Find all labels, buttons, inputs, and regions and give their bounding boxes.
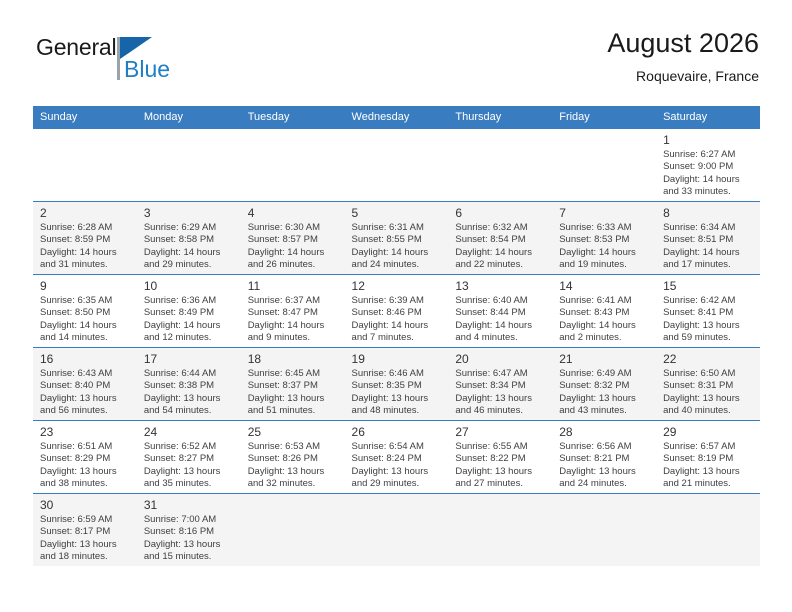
day-number: 19 bbox=[352, 352, 443, 367]
daylight-text-line2: and 22 minutes. bbox=[455, 259, 546, 271]
day-cell[interactable]: 29Sunrise: 6:57 AMSunset: 8:19 PMDayligh… bbox=[656, 421, 760, 494]
general-blue-logo[interactable]: General Blue bbox=[36, 34, 256, 96]
daylight-text-line2: and 18 minutes. bbox=[40, 551, 131, 563]
daylight-text-line1: Daylight: 13 hours bbox=[144, 466, 235, 478]
day-number: 18 bbox=[248, 352, 339, 367]
day-cell bbox=[552, 494, 656, 567]
sunrise-text: Sunrise: 6:59 AM bbox=[40, 514, 131, 526]
daylight-text-line2: and 27 minutes. bbox=[455, 478, 546, 490]
day-cell[interactable]: 22Sunrise: 6:50 AMSunset: 8:31 PMDayligh… bbox=[656, 348, 760, 421]
day-number: 8 bbox=[663, 206, 754, 221]
day-number: 30 bbox=[40, 498, 131, 513]
day-cell bbox=[448, 494, 552, 567]
day-cell[interactable]: 24Sunrise: 6:52 AMSunset: 8:27 PMDayligh… bbox=[137, 421, 241, 494]
sunset-text: Sunset: 8:32 PM bbox=[559, 380, 650, 392]
daylight-text-line2: and 2 minutes. bbox=[559, 332, 650, 344]
daylight-text-line1: Daylight: 13 hours bbox=[248, 466, 339, 478]
sunrise-text: Sunrise: 6:32 AM bbox=[455, 222, 546, 234]
daylight-text-line1: Daylight: 13 hours bbox=[455, 466, 546, 478]
daylight-text-line1: Daylight: 13 hours bbox=[559, 393, 650, 405]
daylight-text-line1: Daylight: 13 hours bbox=[40, 539, 131, 551]
day-number: 14 bbox=[559, 279, 650, 294]
daylight-text-line2: and 12 minutes. bbox=[144, 332, 235, 344]
day-number: 15 bbox=[663, 279, 754, 294]
daylight-text-line1: Daylight: 14 hours bbox=[144, 247, 235, 259]
sunrise-text: Sunrise: 6:56 AM bbox=[559, 441, 650, 453]
day-number: 22 bbox=[663, 352, 754, 367]
sunrise-text: Sunrise: 6:51 AM bbox=[40, 441, 131, 453]
daylight-text-line2: and 24 minutes. bbox=[352, 259, 443, 271]
calendar-week-row: 30Sunrise: 6:59 AMSunset: 8:17 PMDayligh… bbox=[33, 494, 760, 567]
sunset-text: Sunset: 8:35 PM bbox=[352, 380, 443, 392]
page-title: August 2026 bbox=[607, 26, 759, 60]
weekday-header-tuesday: Tuesday bbox=[241, 106, 345, 129]
daylight-text-line2: and 56 minutes. bbox=[40, 405, 131, 417]
daylight-text-line1: Daylight: 14 hours bbox=[559, 320, 650, 332]
title-block: August 2026 Roquevaire, France bbox=[607, 26, 759, 86]
day-number: 23 bbox=[40, 425, 131, 440]
daylight-text-line2: and 24 minutes. bbox=[559, 478, 650, 490]
sunrise-text: Sunrise: 6:49 AM bbox=[559, 368, 650, 380]
daylight-text-line1: Daylight: 13 hours bbox=[40, 393, 131, 405]
day-number: 11 bbox=[248, 279, 339, 294]
calendar-header-row: Sunday Monday Tuesday Wednesday Thursday… bbox=[33, 106, 760, 129]
day-number: 1 bbox=[663, 133, 754, 148]
sunrise-text: Sunrise: 6:45 AM bbox=[248, 368, 339, 380]
daylight-text-line1: Daylight: 14 hours bbox=[352, 247, 443, 259]
sunrise-text: Sunrise: 6:33 AM bbox=[559, 222, 650, 234]
daylight-text-line1: Daylight: 13 hours bbox=[455, 393, 546, 405]
sunrise-text: Sunrise: 6:41 AM bbox=[559, 295, 650, 307]
daylight-text-line1: Daylight: 14 hours bbox=[352, 320, 443, 332]
day-cell[interactable]: 14Sunrise: 6:41 AMSunset: 8:43 PMDayligh… bbox=[552, 275, 656, 348]
calendar-week-row: 1Sunrise: 6:27 AMSunset: 9:00 PMDaylight… bbox=[33, 129, 760, 202]
daylight-text-line2: and 54 minutes. bbox=[144, 405, 235, 417]
sunset-text: Sunset: 8:44 PM bbox=[455, 307, 546, 319]
daylight-text-line2: and 31 minutes. bbox=[40, 259, 131, 271]
calendar-page: General Blue August 2026 Roquevaire, Fra… bbox=[0, 0, 792, 612]
sunset-text: Sunset: 8:51 PM bbox=[663, 234, 754, 246]
daylight-text-line1: Daylight: 14 hours bbox=[248, 247, 339, 259]
sunset-text: Sunset: 8:38 PM bbox=[144, 380, 235, 392]
sunset-text: Sunset: 8:27 PM bbox=[144, 453, 235, 465]
day-cell[interactable]: 23Sunrise: 6:51 AMSunset: 8:29 PMDayligh… bbox=[33, 421, 137, 494]
day-cell bbox=[241, 129, 345, 202]
daylight-text-line1: Daylight: 14 hours bbox=[144, 320, 235, 332]
sunset-text: Sunset: 8:55 PM bbox=[352, 234, 443, 246]
day-cell[interactable]: 31Sunrise: 7:00 AMSunset: 8:16 PMDayligh… bbox=[137, 494, 241, 567]
daylight-text-line1: Daylight: 14 hours bbox=[559, 247, 650, 259]
daylight-text-line1: Daylight: 14 hours bbox=[248, 320, 339, 332]
day-cell[interactable]: 1Sunrise: 6:27 AMSunset: 9:00 PMDaylight… bbox=[656, 129, 760, 202]
page-header: General Blue August 2026 Roquevaire, Fra… bbox=[33, 26, 759, 100]
calendar-week-row: 16Sunrise: 6:43 AMSunset: 8:40 PMDayligh… bbox=[33, 348, 760, 421]
daylight-text-line1: Daylight: 14 hours bbox=[663, 174, 754, 186]
day-cell bbox=[656, 494, 760, 567]
sunset-text: Sunset: 8:19 PM bbox=[663, 453, 754, 465]
daylight-text-line2: and 35 minutes. bbox=[144, 478, 235, 490]
day-number: 25 bbox=[248, 425, 339, 440]
daylight-text-line2: and 46 minutes. bbox=[455, 405, 546, 417]
daylight-text-line2: and 51 minutes. bbox=[248, 405, 339, 417]
day-cell[interactable]: 6Sunrise: 6:32 AMSunset: 8:54 PMDaylight… bbox=[448, 202, 552, 275]
day-cell bbox=[241, 494, 345, 567]
sunset-text: Sunset: 8:58 PM bbox=[144, 234, 235, 246]
weekday-header-monday: Monday bbox=[137, 106, 241, 129]
day-cell bbox=[33, 129, 137, 202]
sunset-text: Sunset: 8:22 PM bbox=[455, 453, 546, 465]
sunset-text: Sunset: 8:31 PM bbox=[663, 380, 754, 392]
day-number: 27 bbox=[455, 425, 546, 440]
daylight-text-line2: and 32 minutes. bbox=[248, 478, 339, 490]
daylight-text-line1: Daylight: 13 hours bbox=[663, 466, 754, 478]
sunrise-text: Sunrise: 6:27 AM bbox=[663, 149, 754, 161]
sunrise-text: Sunrise: 6:42 AM bbox=[663, 295, 754, 307]
day-number: 24 bbox=[144, 425, 235, 440]
day-cell[interactable]: 9Sunrise: 6:35 AMSunset: 8:50 PMDaylight… bbox=[33, 275, 137, 348]
day-number: 13 bbox=[455, 279, 546, 294]
daylight-text-line2: and 40 minutes. bbox=[663, 405, 754, 417]
sunrise-text: Sunrise: 6:30 AM bbox=[248, 222, 339, 234]
sunrise-text: Sunrise: 6:55 AM bbox=[455, 441, 546, 453]
day-number: 7 bbox=[559, 206, 650, 221]
sunrise-text: Sunrise: 6:37 AM bbox=[248, 295, 339, 307]
day-number: 6 bbox=[455, 206, 546, 221]
sunrise-text: Sunrise: 6:57 AM bbox=[663, 441, 754, 453]
sunrise-text: Sunrise: 6:50 AM bbox=[663, 368, 754, 380]
daylight-text-line1: Daylight: 14 hours bbox=[455, 247, 546, 259]
day-cell bbox=[552, 129, 656, 202]
daylight-text-line1: Daylight: 13 hours bbox=[248, 393, 339, 405]
day-number: 4 bbox=[248, 206, 339, 221]
daylight-text-line2: and 14 minutes. bbox=[40, 332, 131, 344]
day-cell[interactable]: 12Sunrise: 6:39 AMSunset: 8:46 PMDayligh… bbox=[345, 275, 449, 348]
day-cell[interactable]: 4Sunrise: 6:30 AMSunset: 8:57 PMDaylight… bbox=[241, 202, 345, 275]
day-cell[interactable]: 3Sunrise: 6:29 AMSunset: 8:58 PMDaylight… bbox=[137, 202, 241, 275]
sunset-text: Sunset: 8:41 PM bbox=[663, 307, 754, 319]
day-cell[interactable]: 15Sunrise: 6:42 AMSunset: 8:41 PMDayligh… bbox=[656, 275, 760, 348]
daylight-text-line2: and 33 minutes. bbox=[663, 186, 754, 198]
sunrise-text: Sunrise: 6:46 AM bbox=[352, 368, 443, 380]
sunrise-text: Sunrise: 6:35 AM bbox=[40, 295, 131, 307]
weekday-header-wednesday: Wednesday bbox=[345, 106, 449, 129]
sunset-text: Sunset: 8:26 PM bbox=[248, 453, 339, 465]
sunset-text: Sunset: 8:54 PM bbox=[455, 234, 546, 246]
daylight-text-line1: Daylight: 13 hours bbox=[663, 393, 754, 405]
sunset-text: Sunset: 8:17 PM bbox=[40, 526, 131, 538]
day-cell[interactable]: 27Sunrise: 6:55 AMSunset: 8:22 PMDayligh… bbox=[448, 421, 552, 494]
day-number: 9 bbox=[40, 279, 131, 294]
daylight-text-line1: Daylight: 13 hours bbox=[144, 539, 235, 551]
daylight-text-line1: Daylight: 14 hours bbox=[663, 247, 754, 259]
daylight-text-line1: Daylight: 13 hours bbox=[352, 393, 443, 405]
sunrise-text: Sunrise: 6:44 AM bbox=[144, 368, 235, 380]
day-number: 12 bbox=[352, 279, 443, 294]
day-number: 5 bbox=[352, 206, 443, 221]
day-number: 29 bbox=[663, 425, 754, 440]
daylight-text-line2: and 4 minutes. bbox=[455, 332, 546, 344]
sunrise-sunset-calendar-table: Sunday Monday Tuesday Wednesday Thursday… bbox=[33, 106, 760, 566]
daylight-text-line1: Daylight: 13 hours bbox=[144, 393, 235, 405]
weekday-header-saturday: Saturday bbox=[656, 106, 760, 129]
daylight-text-line1: Daylight: 13 hours bbox=[559, 466, 650, 478]
daylight-text-line2: and 9 minutes. bbox=[248, 332, 339, 344]
day-cell[interactable]: 30Sunrise: 6:59 AMSunset: 8:17 PMDayligh… bbox=[33, 494, 137, 567]
daylight-text-line2: and 26 minutes. bbox=[248, 259, 339, 271]
day-cell[interactable]: 20Sunrise: 6:47 AMSunset: 8:34 PMDayligh… bbox=[448, 348, 552, 421]
daylight-text-line1: Daylight: 14 hours bbox=[40, 247, 131, 259]
sunset-text: Sunset: 8:40 PM bbox=[40, 380, 131, 392]
day-cell[interactable]: 11Sunrise: 6:37 AMSunset: 8:47 PMDayligh… bbox=[241, 275, 345, 348]
sunset-text: Sunset: 8:47 PM bbox=[248, 307, 339, 319]
day-number: 26 bbox=[352, 425, 443, 440]
calendar-week-row: 23Sunrise: 6:51 AMSunset: 8:29 PMDayligh… bbox=[33, 421, 760, 494]
logo-text-general: General bbox=[36, 34, 116, 61]
day-cell bbox=[345, 129, 449, 202]
sunset-text: Sunset: 8:50 PM bbox=[40, 307, 131, 319]
day-cell[interactable]: 21Sunrise: 6:49 AMSunset: 8:32 PMDayligh… bbox=[552, 348, 656, 421]
day-cell[interactable]: 19Sunrise: 6:46 AMSunset: 8:35 PMDayligh… bbox=[345, 348, 449, 421]
sunrise-text: Sunrise: 6:28 AM bbox=[40, 222, 131, 234]
sunrise-text: Sunrise: 6:52 AM bbox=[144, 441, 235, 453]
daylight-text-line2: and 7 minutes. bbox=[352, 332, 443, 344]
calendar-body: 1Sunrise: 6:27 AMSunset: 9:00 PMDaylight… bbox=[33, 129, 760, 567]
logo-text-blue: Blue bbox=[124, 56, 170, 83]
sunset-text: Sunset: 8:34 PM bbox=[455, 380, 546, 392]
sunrise-text: Sunrise: 7:00 AM bbox=[144, 514, 235, 526]
day-cell[interactable]: 8Sunrise: 6:34 AMSunset: 8:51 PMDaylight… bbox=[656, 202, 760, 275]
daylight-text-line2: and 59 minutes. bbox=[663, 332, 754, 344]
day-number: 17 bbox=[144, 352, 235, 367]
daylight-text-line2: and 29 minutes. bbox=[352, 478, 443, 490]
day-number: 16 bbox=[40, 352, 131, 367]
day-cell[interactable]: 16Sunrise: 6:43 AMSunset: 8:40 PMDayligh… bbox=[33, 348, 137, 421]
calendar-week-row: 2Sunrise: 6:28 AMSunset: 8:59 PMDaylight… bbox=[33, 202, 760, 275]
sunrise-text: Sunrise: 6:40 AM bbox=[455, 295, 546, 307]
daylight-text-line2: and 17 minutes. bbox=[663, 259, 754, 271]
sunset-text: Sunset: 8:24 PM bbox=[352, 453, 443, 465]
sunrise-text: Sunrise: 6:47 AM bbox=[455, 368, 546, 380]
daylight-text-line1: Daylight: 14 hours bbox=[455, 320, 546, 332]
daylight-text-line2: and 38 minutes. bbox=[40, 478, 131, 490]
sunrise-text: Sunrise: 6:36 AM bbox=[144, 295, 235, 307]
page-subtitle-location: Roquevaire, France bbox=[607, 66, 759, 86]
weekday-header-friday: Friday bbox=[552, 106, 656, 129]
sunrise-text: Sunrise: 6:43 AM bbox=[40, 368, 131, 380]
day-cell[interactable]: 13Sunrise: 6:40 AMSunset: 8:44 PMDayligh… bbox=[448, 275, 552, 348]
sunset-text: Sunset: 8:59 PM bbox=[40, 234, 131, 246]
sunrise-text: Sunrise: 6:53 AM bbox=[248, 441, 339, 453]
sunset-text: Sunset: 8:16 PM bbox=[144, 526, 235, 538]
daylight-text-line2: and 48 minutes. bbox=[352, 405, 443, 417]
weekday-header-sunday: Sunday bbox=[33, 106, 137, 129]
sunset-text: Sunset: 9:00 PM bbox=[663, 161, 754, 173]
sunset-text: Sunset: 8:49 PM bbox=[144, 307, 235, 319]
day-number: 20 bbox=[455, 352, 546, 367]
day-number: 10 bbox=[144, 279, 235, 294]
daylight-text-line1: Daylight: 14 hours bbox=[40, 320, 131, 332]
day-number: 28 bbox=[559, 425, 650, 440]
day-cell[interactable]: 2Sunrise: 6:28 AMSunset: 8:59 PMDaylight… bbox=[33, 202, 137, 275]
daylight-text-line1: Daylight: 13 hours bbox=[352, 466, 443, 478]
calendar-week-row: 9Sunrise: 6:35 AMSunset: 8:50 PMDaylight… bbox=[33, 275, 760, 348]
daylight-text-line2: and 43 minutes. bbox=[559, 405, 650, 417]
day-cell bbox=[137, 129, 241, 202]
sunset-text: Sunset: 8:29 PM bbox=[40, 453, 131, 465]
day-number: 3 bbox=[144, 206, 235, 221]
sunrise-text: Sunrise: 6:31 AM bbox=[352, 222, 443, 234]
sunrise-text: Sunrise: 6:29 AM bbox=[144, 222, 235, 234]
day-cell[interactable]: 10Sunrise: 6:36 AMSunset: 8:49 PMDayligh… bbox=[137, 275, 241, 348]
day-cell bbox=[345, 494, 449, 567]
day-cell[interactable]: 7Sunrise: 6:33 AMSunset: 8:53 PMDaylight… bbox=[552, 202, 656, 275]
weekday-header-thursday: Thursday bbox=[448, 106, 552, 129]
day-number: 31 bbox=[144, 498, 235, 513]
sunset-text: Sunset: 8:57 PM bbox=[248, 234, 339, 246]
sunset-text: Sunset: 8:46 PM bbox=[352, 307, 443, 319]
day-cell[interactable]: 17Sunrise: 6:44 AMSunset: 8:38 PMDayligh… bbox=[137, 348, 241, 421]
sunset-text: Sunset: 8:43 PM bbox=[559, 307, 650, 319]
day-cell[interactable]: 25Sunrise: 6:53 AMSunset: 8:26 PMDayligh… bbox=[241, 421, 345, 494]
daylight-text-line2: and 15 minutes. bbox=[144, 551, 235, 563]
sunrise-text: Sunrise: 6:54 AM bbox=[352, 441, 443, 453]
sunset-text: Sunset: 8:37 PM bbox=[248, 380, 339, 392]
daylight-text-line1: Daylight: 13 hours bbox=[40, 466, 131, 478]
daylight-text-line2: and 21 minutes. bbox=[663, 478, 754, 490]
day-cell[interactable]: 26Sunrise: 6:54 AMSunset: 8:24 PMDayligh… bbox=[345, 421, 449, 494]
sunset-text: Sunset: 8:53 PM bbox=[559, 234, 650, 246]
day-number: 2 bbox=[40, 206, 131, 221]
daylight-text-line2: and 29 minutes. bbox=[144, 259, 235, 271]
day-cell[interactable]: 18Sunrise: 6:45 AMSunset: 8:37 PMDayligh… bbox=[241, 348, 345, 421]
sunrise-text: Sunrise: 6:34 AM bbox=[663, 222, 754, 234]
day-number: 21 bbox=[559, 352, 650, 367]
daylight-text-line1: Daylight: 13 hours bbox=[663, 320, 754, 332]
day-cell[interactable]: 28Sunrise: 6:56 AMSunset: 8:21 PMDayligh… bbox=[552, 421, 656, 494]
daylight-text-line2: and 19 minutes. bbox=[559, 259, 650, 271]
day-cell bbox=[448, 129, 552, 202]
sunset-text: Sunset: 8:21 PM bbox=[559, 453, 650, 465]
day-cell[interactable]: 5Sunrise: 6:31 AMSunset: 8:55 PMDaylight… bbox=[345, 202, 449, 275]
sunrise-text: Sunrise: 6:39 AM bbox=[352, 295, 443, 307]
